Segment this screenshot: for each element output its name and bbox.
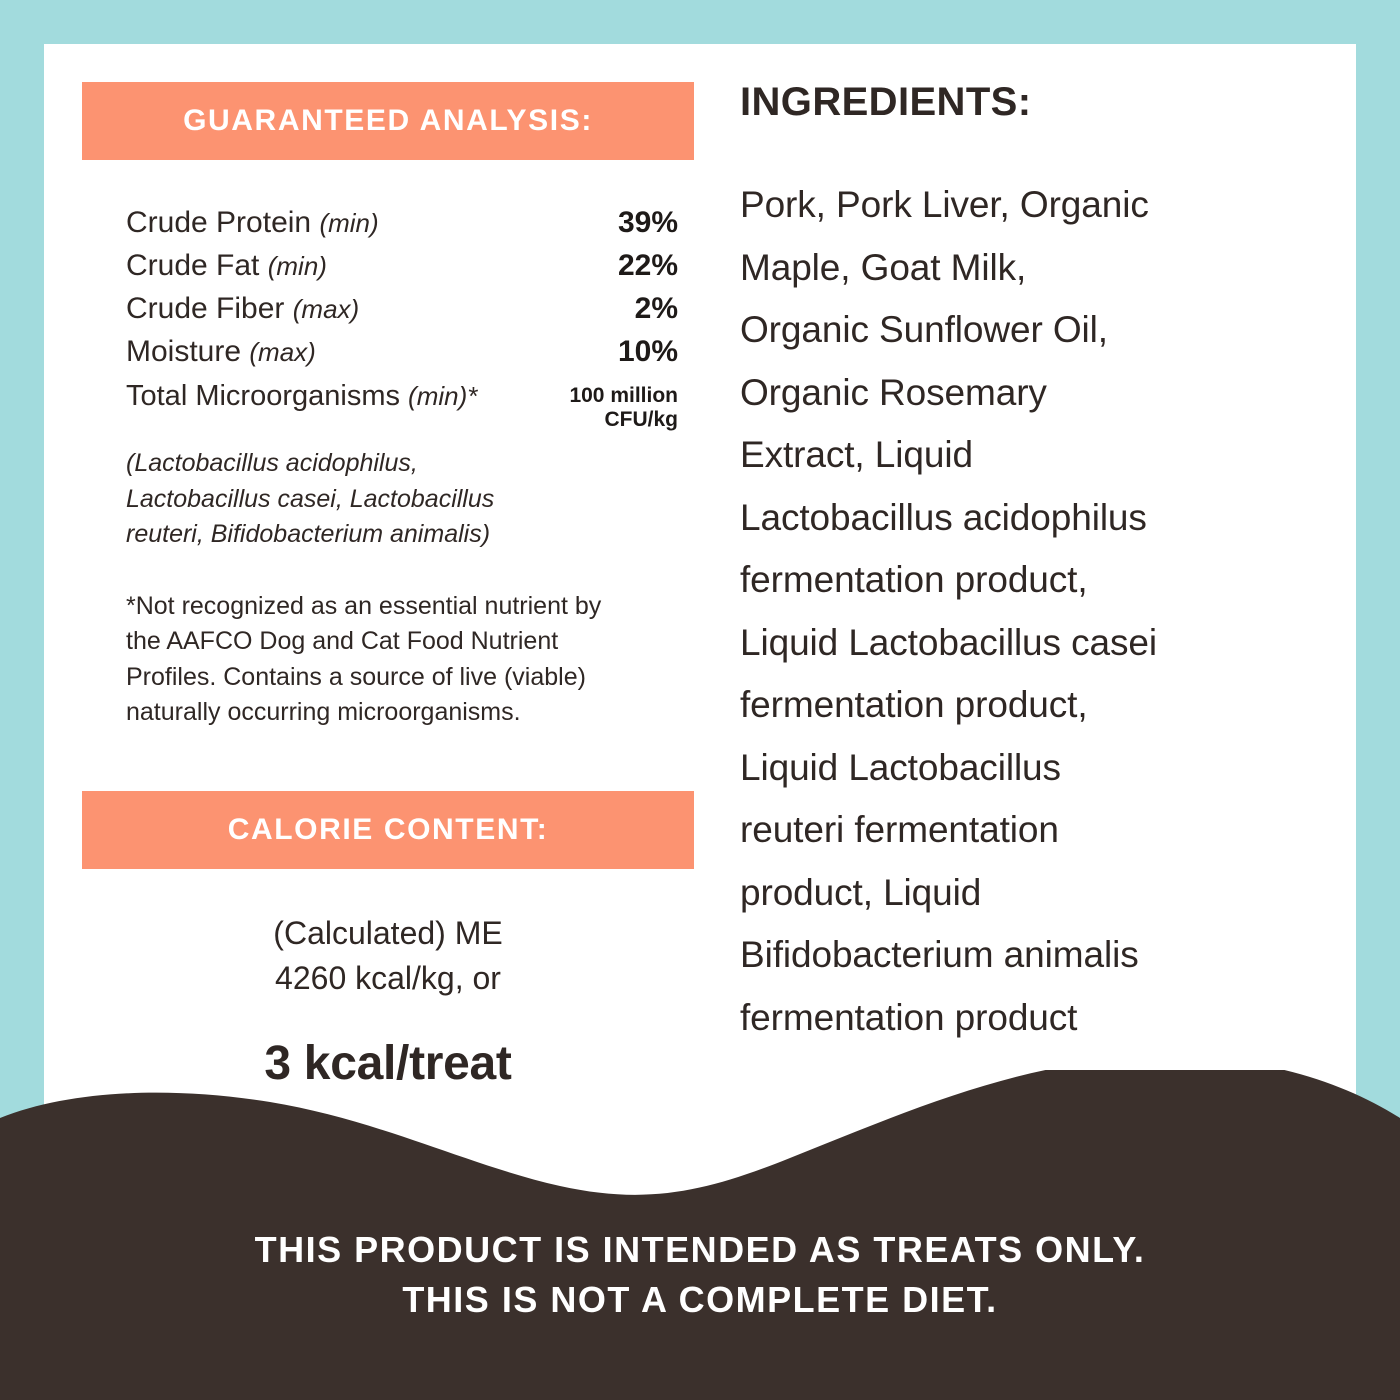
- species-line: (Lactobacillus acidophilus,: [126, 446, 678, 482]
- analysis-label: Total Microorganisms (min)*: [126, 378, 477, 413]
- ingredients-line: fermentation product,: [740, 674, 1320, 737]
- analysis-label: Crude Fiber (max): [126, 292, 359, 326]
- analysis-nutrient-name: Crude Protein: [126, 206, 311, 239]
- guaranteed-analysis-title: GUARANTEED ANALYSIS:: [183, 106, 593, 136]
- table-row: Crude Fat (min) 22%: [82, 249, 694, 283]
- ingredients-line: Lactobacillus acidophilus: [740, 487, 1320, 550]
- calorie-line-1: (Calculated) ME: [82, 911, 694, 956]
- table-row: Moisture (max) 10%: [82, 335, 694, 369]
- analysis-qualifier: (max): [249, 337, 315, 367]
- calorie-line-2: 4260 kcal/kg, or: [82, 956, 694, 1001]
- ingredients-line: Pork, Pork Liver, Organic: [740, 174, 1320, 237]
- table-row: Crude Protein (min) 39%: [82, 206, 694, 240]
- ingredients-heading: INGREDIENTS:: [740, 82, 1320, 122]
- analysis-value: 100 million CFU/kg: [569, 378, 678, 432]
- footnote-line: naturally occurring microorganisms.: [126, 695, 678, 731]
- ingredients-list: Pork, Pork Liver, Organic Maple, Goat Mi…: [740, 174, 1320, 1049]
- ingredients-line: Liquid Lactobacillus: [740, 737, 1320, 800]
- microorganisms-value-line1: 100 million: [569, 384, 678, 408]
- calorie-content-title: CALORIE CONTENT:: [228, 815, 549, 845]
- ingredients-line: Maple, Goat Milk,: [740, 237, 1320, 300]
- ingredients-line: Organic Sunflower Oil,: [740, 299, 1320, 362]
- ingredients-line: fermentation product,: [740, 549, 1320, 612]
- footer-wave-shape: [0, 1070, 1400, 1400]
- analysis-label: Crude Fat (min): [126, 249, 327, 283]
- calorie-content-section: CALORIE CONTENT: (Calculated) ME 4260 kc…: [82, 791, 694, 1091]
- analysis-nutrient-name: Crude Fat: [126, 249, 259, 282]
- ingredients-line: Extract, Liquid: [740, 424, 1320, 487]
- table-row-microorganisms: Total Microorganisms (min)* 100 million …: [82, 378, 694, 432]
- analysis-qualifier: (min): [319, 208, 378, 238]
- species-line: reuteri, Bifidobacterium animalis): [126, 517, 678, 553]
- ingredients-line: Bifidobacterium animalis: [740, 924, 1320, 987]
- pet-food-label: GUARANTEED ANALYSIS: Crude Protein (min)…: [0, 0, 1400, 1400]
- microorganisms-value-line2: CFU/kg: [569, 408, 678, 432]
- left-column: GUARANTEED ANALYSIS: Crude Protein (min)…: [82, 82, 694, 1091]
- ingredients-line: reuteri fermentation: [740, 799, 1320, 862]
- ingredients-line: Liquid Lactobacillus casei: [740, 612, 1320, 675]
- footnote-line: *Not recognized as an essential nutrient…: [126, 589, 678, 625]
- analysis-qualifier: (min)*: [408, 381, 477, 411]
- guaranteed-analysis-band: GUARANTEED ANALYSIS:: [82, 82, 694, 160]
- analysis-nutrient-name: Moisture: [126, 335, 241, 368]
- ingredients-line: Organic Rosemary: [740, 362, 1320, 425]
- analysis-footnote: *Not recognized as an essential nutrient…: [82, 589, 694, 731]
- species-line: Lactobacillus casei, Lactobacillus: [126, 482, 678, 518]
- analysis-value: 39%: [618, 206, 678, 240]
- right-column: INGREDIENTS: Pork, Pork Liver, Organic M…: [740, 82, 1320, 1049]
- calorie-content-band: CALORIE CONTENT:: [82, 791, 694, 869]
- analysis-qualifier: (max): [293, 294, 359, 324]
- analysis-value: 10%: [618, 335, 678, 369]
- footnote-line: Profiles. Contains a source of live (via…: [126, 660, 678, 696]
- analysis-value: 2%: [635, 292, 678, 326]
- analysis-nutrient-name: Total Microorganisms: [126, 380, 400, 412]
- analysis-qualifier: (min): [268, 251, 327, 281]
- footnote-line: the AAFCO Dog and Cat Food Nutrient: [126, 624, 678, 660]
- guaranteed-analysis-table: Crude Protein (min) 39% Crude Fat (min) …: [82, 206, 694, 432]
- ingredients-line: product, Liquid: [740, 862, 1320, 925]
- analysis-label: Moisture (max): [126, 335, 316, 369]
- ingredients-line: fermentation product: [740, 987, 1320, 1050]
- table-row: Crude Fiber (max) 2%: [82, 292, 694, 326]
- species-list: (Lactobacillus acidophilus, Lactobacillu…: [82, 446, 694, 553]
- calorie-content-body: (Calculated) ME 4260 kcal/kg, or 3 kcal/…: [82, 911, 694, 1091]
- analysis-value: 22%: [618, 249, 678, 283]
- analysis-label: Crude Protein (min): [126, 206, 379, 240]
- analysis-nutrient-name: Crude Fiber: [126, 292, 284, 325]
